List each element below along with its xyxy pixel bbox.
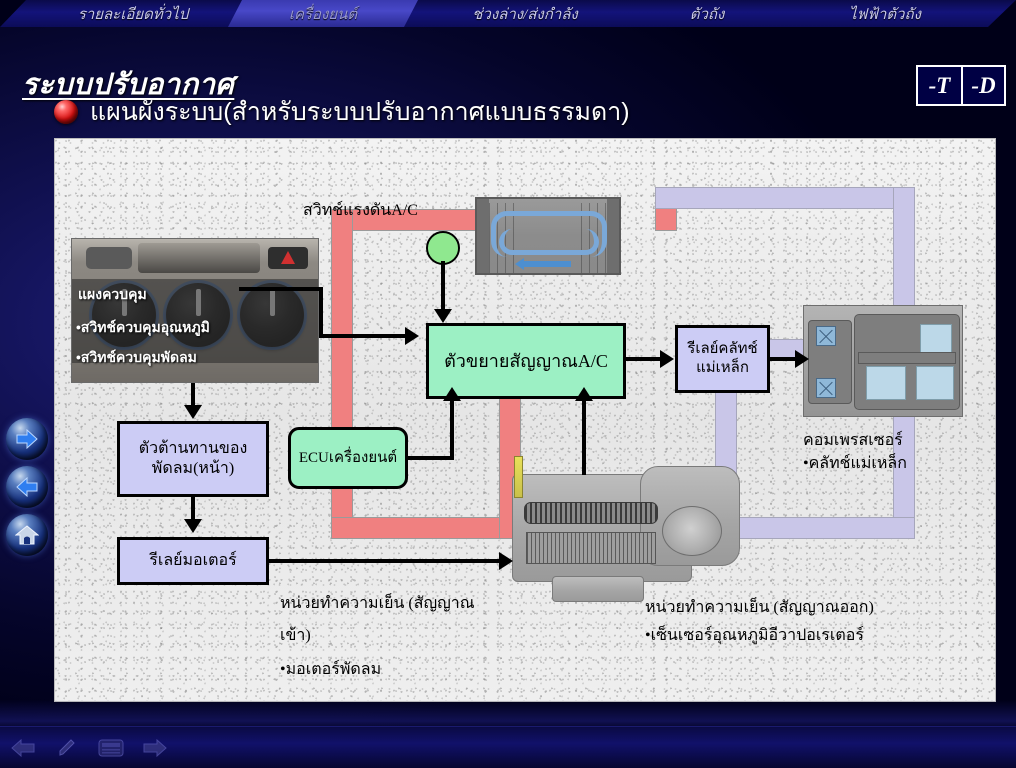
forward-button[interactable] xyxy=(6,418,48,460)
pencil-icon xyxy=(57,738,77,758)
high-pressure-pipe-left xyxy=(331,209,353,539)
control-panel-photo: แผงควบคุม •สวิทช์ควบคุมอุณหภูมิ •สวิทช์ค… xyxy=(71,238,319,383)
code-badge-d[interactable]: -D xyxy=(961,67,1004,104)
connector-arrow-to-resistor xyxy=(184,405,202,419)
hazard-triangle-icon xyxy=(281,251,295,264)
compressor-title-label: คอมเพรสเซอร์ xyxy=(803,429,903,453)
nav-tab-body-electrical[interactable]: ไฟฟ้าตัวถัง xyxy=(790,0,980,27)
control-panel-vent-left xyxy=(86,247,132,269)
connector-relay-to-cooling-unit xyxy=(269,559,499,563)
arrow-left-icon xyxy=(11,739,35,757)
annotate-button[interactable] xyxy=(54,737,80,759)
compressor-chamber-1 xyxy=(920,324,952,354)
cooling-in-item-label: •มอเตอร์พัดลม xyxy=(280,658,381,682)
blower-resistor-label-line2: พัดลม(หน้า) xyxy=(152,459,234,479)
evaporator-core xyxy=(526,532,656,564)
compressor-chamber-3 xyxy=(916,366,954,400)
connector-evaporator-sensor-to-amplifier xyxy=(582,401,586,475)
magnetic-clutch-relay-label-line2: แม่เหล็ก xyxy=(696,359,749,378)
connector-control-to-amplifier xyxy=(319,334,405,338)
nav-tab-label: ไฟฟ้าตัวถัง xyxy=(849,2,921,26)
cooling-in-title-line1: หน่วยทำความเย็น (สัญญาณ xyxy=(280,592,475,616)
compressor-illustration xyxy=(803,305,963,417)
low-pressure-pipe-top xyxy=(655,187,915,209)
presentation-slide: รายละเอียดทั่วไป เครื่องยนต์ ช่วงล่าง/ส่… xyxy=(0,0,1016,768)
back-button[interactable] xyxy=(6,466,48,508)
connector-arrow-ecu-to-amplifier xyxy=(443,387,461,401)
connector-arrow-to-cooling-unit xyxy=(499,552,513,570)
screen-icon xyxy=(98,739,124,757)
connector-control-to-resistor xyxy=(191,383,195,407)
system-diagram-canvas: แผงควบคุม •สวิทช์ควบคุมอุณหภูมิ •สวิทช์ค… xyxy=(55,139,995,701)
subtitle-text: แผนผังระบบ(สำหรับระบบปรับอากาศแบบธรรมดา) xyxy=(90,92,630,132)
connector-ecu-to-amplifier xyxy=(408,456,454,460)
ac-amplifier-label: ตัวขยายสัญญาณA/C xyxy=(444,350,608,373)
pressure-switch-connector xyxy=(441,261,445,311)
arrow-left-icon xyxy=(15,477,39,497)
magnetic-clutch-coil-top xyxy=(816,326,836,346)
home-icon xyxy=(15,524,39,546)
connector-arrow-to-clutch-relay xyxy=(660,350,674,368)
condenser-illustration xyxy=(475,197,621,275)
connector-arrow-to-motor-relay xyxy=(184,519,202,533)
code-badge-group: -T -D xyxy=(916,65,1006,106)
condenser-tank-left xyxy=(477,199,489,273)
cooling-unit-illustration xyxy=(490,454,742,604)
cooling-out-item-label: •เซ็นเซอร์อุณหภูมิอีวาปอเรเตอร์ xyxy=(645,624,864,648)
connector-arrow-evaporator-to-amplifier xyxy=(575,387,593,401)
cooling-in-title-line2: เข้า) xyxy=(280,624,311,648)
subtitle-row: แผนผังระบบ(สำหรับระบบปรับอากาศแบบธรรมดา) xyxy=(54,92,630,132)
control-panel-item-blower: •สวิทช์ควบคุมพัดลม xyxy=(76,347,197,369)
pressure-switch-arrowhead xyxy=(434,309,452,323)
connector-arrow-to-compressor xyxy=(795,350,809,368)
connector-control-out xyxy=(239,287,323,291)
connector-control-riser xyxy=(319,287,323,338)
blower-resistor-box[interactable]: ตัวต้านทานของ พัดลม(หน้า) xyxy=(117,421,269,497)
magnetic-clutch-relay-box[interactable]: รีเลย์คลัทช์ แม่เหล็ก xyxy=(675,325,770,393)
condenser-refrigerant-path-2 xyxy=(499,229,599,255)
motor-relay-box[interactable]: รีเลย์มอเตอร์ xyxy=(117,537,269,585)
condenser-flow-arrow xyxy=(521,261,571,267)
notes-button[interactable] xyxy=(98,737,124,759)
bottom-toolbar xyxy=(0,726,1016,768)
control-panel-item-temperature: •สวิทช์ควบคุมอุณหภูมิ xyxy=(76,317,210,339)
title-row: ระบบปรับอากาศ -T -D xyxy=(0,27,1016,85)
nav-tab-chassis-drivetrain[interactable]: ช่วงล่าง/ส่งกำลัง xyxy=(420,0,630,27)
nav-tab-engine[interactable]: เครื่องยนต์ xyxy=(228,0,418,27)
navbar-left-corner xyxy=(0,0,26,27)
engine-ecu-label: ECUเครื่องยนต์ xyxy=(299,449,397,468)
cooling-out-title: หน่วยทำความเย็น (สัญญาณออก) xyxy=(645,596,874,620)
top-navigation-bar: รายละเอียดทั่วไป เครื่องยนต์ ช่วงล่าง/ส่… xyxy=(0,0,1016,27)
nav-tab-body[interactable]: ตัวถัง xyxy=(632,0,782,27)
nav-tab-label: ช่วงล่าง/ส่งกำลัง xyxy=(472,2,578,26)
evaporator-blower-wheel xyxy=(524,502,658,524)
control-panel-hazard-button xyxy=(268,247,308,269)
blower-fan xyxy=(662,506,722,556)
nav-tab-label: เครื่องยนต์ xyxy=(289,2,357,26)
control-panel-display xyxy=(138,243,260,273)
previous-page-button[interactable] xyxy=(10,737,36,759)
red-sphere-bullet-icon xyxy=(54,100,78,124)
pressure-switch-node-icon[interactable] xyxy=(426,231,460,265)
nav-tab-label: ตัวถัง xyxy=(690,2,725,26)
blower-resistor-label-line1: ตัวต้านทานของ xyxy=(139,439,248,459)
home-button[interactable] xyxy=(6,514,48,556)
connector-ecu-riser xyxy=(450,401,454,460)
nav-tab-general-info[interactable]: รายละเอียดทั่วไป xyxy=(38,0,228,27)
navbar-right-corner xyxy=(988,0,1016,27)
connector-amplifier-to-clutch-relay xyxy=(626,357,662,361)
condenser-flow-arrowhead xyxy=(515,258,524,270)
magnetic-clutch-coil-bottom xyxy=(816,378,836,398)
motor-relay-label: รีเลย์มอเตอร์ xyxy=(149,551,236,571)
code-badge-t[interactable]: -T xyxy=(918,67,961,104)
cooling-unit-duct xyxy=(552,576,644,602)
low-pressure-pipe-bottom xyxy=(715,517,915,539)
arrow-right-icon xyxy=(15,429,39,449)
pressure-switch-label: สวิทช์แรงดันA/C xyxy=(303,199,418,223)
control-panel-title: แผงควบคุม xyxy=(78,284,147,306)
arrow-right-icon xyxy=(143,739,167,757)
evaporator-temperature-sensor xyxy=(514,456,523,498)
engine-ecu-box[interactable]: ECUเครื่องยนต์ xyxy=(288,427,408,489)
left-navigation-panel xyxy=(6,418,48,556)
compressor-item-label: •คลัทช์แม่เหล็ก xyxy=(803,452,907,476)
next-page-button[interactable] xyxy=(142,737,168,759)
connector-resistor-to-relay xyxy=(191,497,195,521)
compressor-shaft xyxy=(858,352,956,364)
magnetic-clutch-relay-label-line1: รีเลย์คลัทช์ xyxy=(687,340,757,359)
connector-arrow-to-amplifier xyxy=(405,327,419,345)
condenser-tank-right xyxy=(607,199,619,273)
nav-tab-label: รายละเอียดทั่วไป xyxy=(78,2,189,26)
compressor-chamber-2 xyxy=(866,366,906,400)
